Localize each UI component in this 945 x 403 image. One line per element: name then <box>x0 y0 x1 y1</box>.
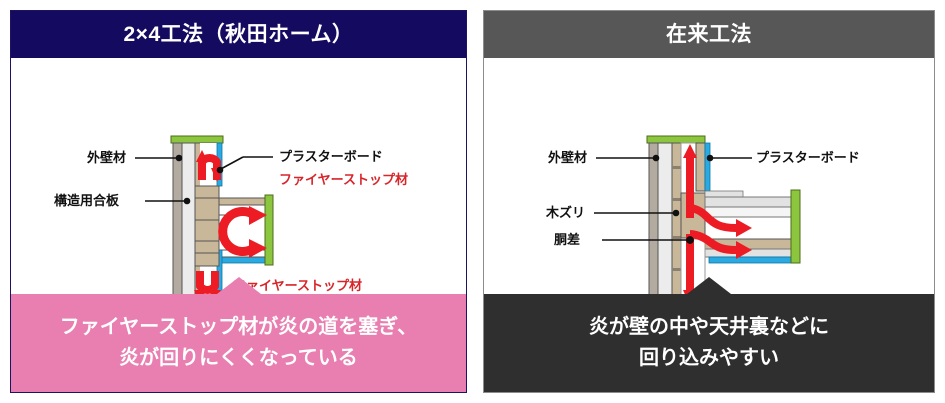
banner-line-1-left: ファイヤーストップ材が炎の道を塞ぎ、 <box>60 312 417 343</box>
banner-line-2-right: 回り込みやすい <box>639 343 779 374</box>
banner-conventional: 炎が壁の中や天井裏などに 回り込みやすい <box>484 294 934 392</box>
panel-body-two-by-four: 外壁材 構造用合板 プラスターボード ファイヤーストップ材 ファイヤーストップ材… <box>11 58 466 392</box>
label-exterior-wall-left: 外壁材 <box>87 151 126 164</box>
label-structural-plywood: 構造用合板 <box>54 194 119 207</box>
banner-notch-dark <box>687 277 731 294</box>
wall-section-diagram-conventional <box>484 58 934 296</box>
label-firestop-top: ファイヤーストップ材 <box>279 173 408 186</box>
banner-notch-pink <box>217 277 261 294</box>
comparison-figure: 2×4工法（秋田ホーム） <box>0 0 945 403</box>
label-exterior-wall-right: 外壁材 <box>548 151 587 164</box>
panel-title-conventional: 在来工法 <box>484 11 934 58</box>
panel-conventional: 在来工法 <box>483 10 935 393</box>
banner-two-by-four: ファイヤーストップ材が炎の道を塞ぎ、 炎が回りにくくなっている <box>11 294 466 392</box>
label-furring-strip: 木ズリ <box>546 206 585 219</box>
label-plasterboard-right: プラスターボード <box>756 151 860 164</box>
label-plasterboard-left: プラスターボード <box>279 150 383 163</box>
panel-title-two-by-four: 2×4工法（秋田ホーム） <box>11 11 466 58</box>
panel-two-by-four: 2×4工法（秋田ホーム） <box>10 10 467 393</box>
label-girder: 胴差 <box>554 233 580 246</box>
banner-line-2-left: 炎が回りにくくなっている <box>119 343 358 374</box>
banner-line-1-right: 炎が壁の中や天井裏などに <box>589 312 829 343</box>
panel-body-conventional: 外壁材 木ズリ 胴差 プラスターボード 炎が壁の中や天井裏などに 回り込みやすい <box>484 58 934 392</box>
